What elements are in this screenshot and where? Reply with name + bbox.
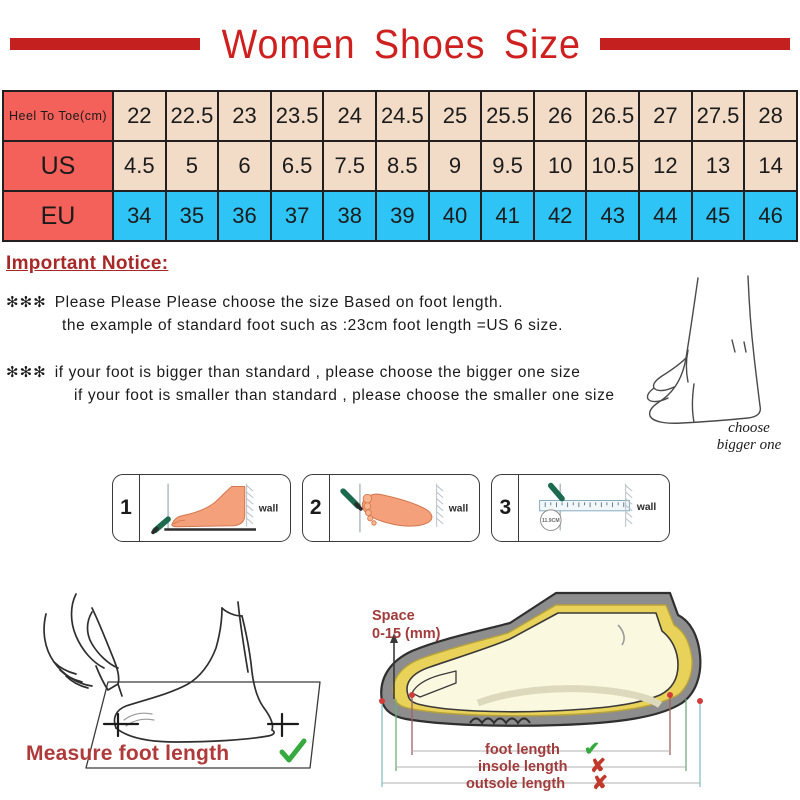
- choose-bigger-line-1: choose: [694, 420, 800, 437]
- notice-line-2b: if your foot is smaller than standard , …: [6, 384, 706, 407]
- cell-eu-0: 34: [113, 191, 166, 241]
- page-title-word-2: Shoes: [374, 21, 486, 67]
- cell-eu-9: 43: [586, 191, 639, 241]
- row-header-us: US: [3, 141, 113, 191]
- cell-eu-11: 45: [692, 191, 745, 241]
- choose-bigger-line-2: bigger one: [694, 437, 800, 454]
- measurement-steps: 1: [112, 474, 670, 542]
- cell-cm-9: 26.5: [586, 91, 639, 141]
- cell-us-3: 6.5: [271, 141, 324, 191]
- step-number-3: 3: [492, 475, 519, 541]
- step-number-1: 1: [113, 475, 140, 541]
- cell-us-1: 5: [166, 141, 219, 191]
- cell-us-9: 10.5: [586, 141, 639, 191]
- check-icon: [278, 737, 308, 767]
- step-number-2: 2: [303, 475, 330, 541]
- cell-cm-8: 26: [534, 91, 587, 141]
- cell-eu-4: 38: [323, 191, 376, 241]
- row-header-heel-to-toe: Heel To Toe(cm): [3, 91, 113, 141]
- page-title: WomenShoesSize: [221, 24, 580, 65]
- space-label-line-1: Space: [372, 608, 415, 624]
- cell-us-6: 9: [429, 141, 482, 191]
- cell-cm-10: 27: [639, 91, 692, 141]
- cell-eu-12: 46: [744, 191, 797, 241]
- notice-line-1a: ✻✻✻Please Please Please choose the size …: [6, 291, 706, 314]
- ruler-value-label: 11.9CM: [542, 518, 560, 524]
- cell-eu-10: 44: [639, 191, 692, 241]
- cell-cm-11: 27.5: [692, 91, 745, 141]
- notice-text-1a: Please Please Please choose the size Bas…: [55, 294, 503, 311]
- cell-cm-0: 22: [113, 91, 166, 141]
- cell-eu-6: 40: [429, 191, 482, 241]
- label-insole-length: insole length: [478, 759, 567, 775]
- notice-heading: Important Notice:: [6, 253, 706, 275]
- notice-text-2a: if your foot is bigger than standard , p…: [55, 364, 581, 381]
- cell-cm-6: 25: [429, 91, 482, 141]
- notice-block-1: ✻✻✻Please Please Please choose the size …: [6, 291, 706, 337]
- cell-us-8: 10: [534, 141, 587, 191]
- measure-foot-length-label: Measure foot length: [26, 742, 229, 766]
- cell-cm-5: 24.5: [376, 91, 429, 141]
- page-title-word-3: Size: [504, 21, 581, 67]
- svg-text:wall: wall: [447, 504, 468, 515]
- asterisk-icon: ✻✻✻: [6, 294, 47, 311]
- label-foot-length: foot length: [485, 742, 560, 758]
- cell-us-0: 4.5: [113, 141, 166, 191]
- cell-cm-2: 23: [218, 91, 271, 141]
- asterisk-icon: ✻✻✻: [6, 364, 47, 381]
- shoe-cross-section-illustration: [360, 575, 800, 800]
- page-title-word-1: Women: [221, 21, 355, 67]
- page-title-bar: WomenShoesSize: [0, 18, 800, 70]
- cell-cm-7: 25.5: [481, 91, 534, 141]
- size-conversion-table: Heel To Toe(cm) 22 22.5 23 23.5 24 24.5 …: [2, 90, 798, 242]
- cross-icon: ✘: [592, 772, 608, 795]
- table-row-us: US 4.5 5 6 6.5 7.5 8.5 9 9.5 10 10.5 12 …: [3, 141, 797, 191]
- step-panel-1: 1: [112, 474, 291, 542]
- notice-block-2: ✻✻✻if your foot is bigger than standard …: [6, 361, 706, 407]
- cell-eu-7: 41: [481, 191, 534, 241]
- cell-cm-12: 28: [744, 91, 797, 141]
- row-header-eu: EU: [3, 191, 113, 241]
- cell-eu-3: 37: [271, 191, 324, 241]
- step-illustration-1: wall: [140, 475, 290, 541]
- cell-us-2: 6: [218, 141, 271, 191]
- cell-eu-1: 35: [166, 191, 219, 241]
- table-row-eu: EU 34 35 36 37 38 39 40 41 42 43 44 45 4…: [3, 191, 797, 241]
- label-outsole-length: outsole length: [466, 776, 565, 792]
- cell-us-10: 12: [639, 141, 692, 191]
- svg-text:wall: wall: [258, 504, 279, 515]
- step-illustration-3: 11.9CM wall: [519, 475, 669, 541]
- step-panel-2: 2: [302, 474, 481, 542]
- cell-us-4: 7.5: [323, 141, 376, 191]
- cell-cm-1: 22.5: [166, 91, 219, 141]
- cell-cm-4: 24: [323, 91, 376, 141]
- title-rule-left: [10, 38, 200, 50]
- step-illustration-2: wall: [330, 475, 480, 541]
- cell-cm-3: 23.5: [271, 91, 324, 141]
- choose-bigger-caption: choose bigger one: [694, 420, 800, 454]
- space-label-line-2: 0-15 (mm): [372, 626, 441, 642]
- cell-eu-2: 36: [218, 191, 271, 241]
- cell-us-12: 14: [744, 141, 797, 191]
- cell-us-11: 13: [692, 141, 745, 191]
- cell-eu-5: 39: [376, 191, 429, 241]
- important-notice-section: Important Notice: ✻✻✻Please Please Pleas…: [6, 253, 706, 407]
- notice-line-2a: ✻✻✻if your foot is bigger than standard …: [6, 361, 706, 384]
- svg-text:wall: wall: [636, 502, 657, 513]
- step-panel-3: 3 11.9CM: [491, 474, 670, 542]
- ankle-side-profile-illustration: [636, 272, 800, 432]
- cell-us-7: 9.5: [481, 141, 534, 191]
- cell-us-5: 8.5: [376, 141, 429, 191]
- title-rule-right: [600, 38, 790, 50]
- table-row-heel-to-toe: Heel To Toe(cm) 22 22.5 23 23.5 24 24.5 …: [3, 91, 797, 141]
- cell-eu-8: 42: [534, 191, 587, 241]
- notice-line-1b: the example of standard foot such as :23…: [6, 314, 706, 337]
